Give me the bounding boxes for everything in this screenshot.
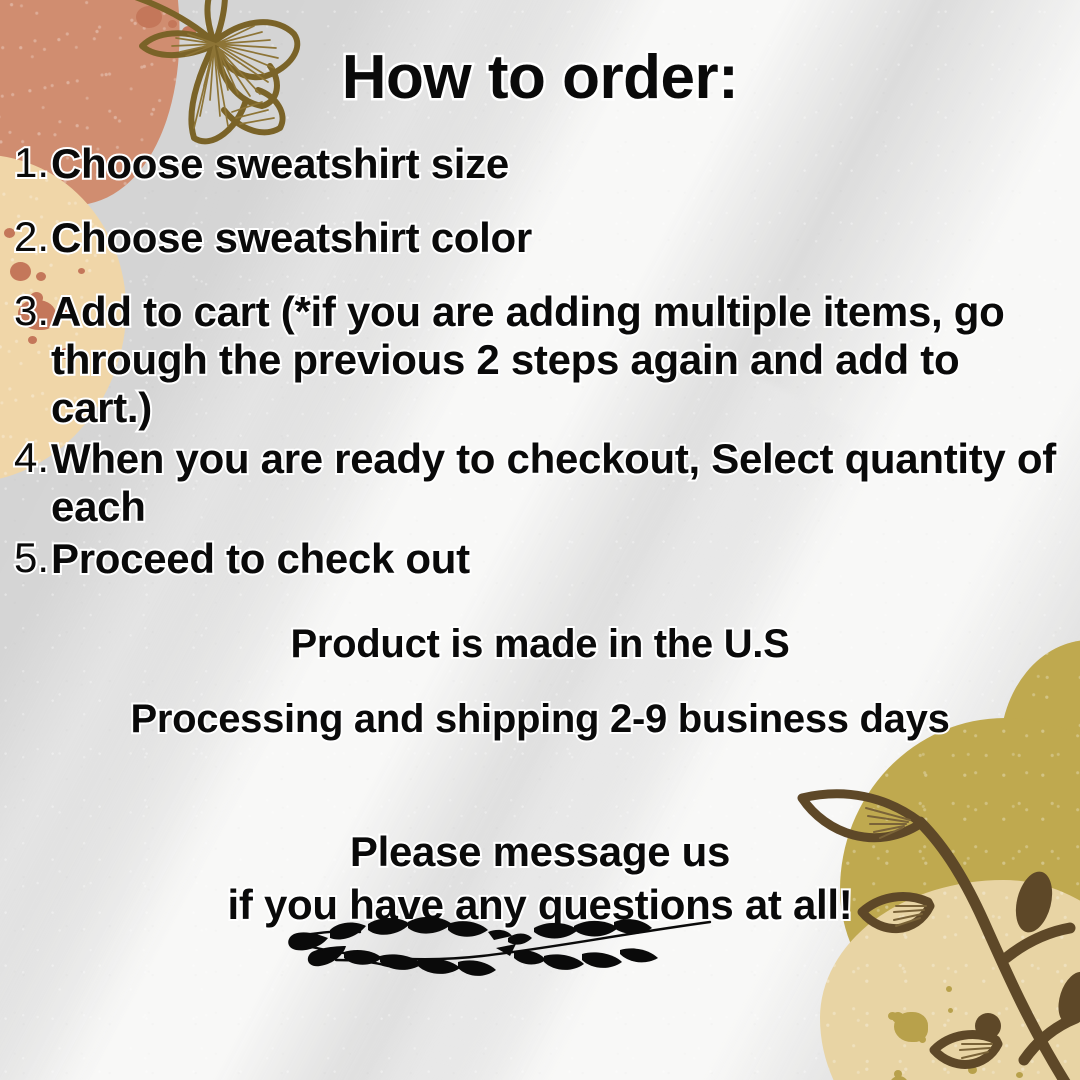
step-number: 4. — [14, 435, 49, 480]
step-number: 5. — [14, 535, 49, 580]
list-item: 1. Choose sweatshirt size — [14, 140, 1070, 188]
order-instructions-card: How to order: 1. Choose sweatshirt size … — [0, 0, 1080, 1080]
list-item: 3. Add to cart (*if you are adding multi… — [14, 288, 1070, 432]
page-title: How to order: — [0, 42, 1080, 113]
step-text: Choose sweatshirt color — [51, 214, 1070, 262]
list-item: 5. Proceed to check out — [14, 535, 1070, 583]
step-text: Add to cart (*if you are adding multiple… — [51, 288, 1070, 432]
made-in-text: Product is made in the U.S — [0, 622, 1080, 667]
order-steps-list: 1. Choose sweatshirt size 2. Choose swea… — [14, 140, 1070, 587]
product-info-block: Product is made in the U.S Processing an… — [0, 622, 1080, 772]
step-text: Proceed to check out — [51, 535, 1070, 583]
step-number: 1. — [14, 140, 49, 185]
step-number: 2. — [14, 214, 49, 259]
laurel-sprig-divider-icon — [282, 912, 712, 984]
list-item: 2. Choose sweatshirt color — [14, 214, 1070, 262]
step-number: 3. — [14, 288, 49, 333]
closing-line-1: Please message us — [0, 826, 1080, 879]
step-text: When you are ready to checkout, Select q… — [51, 435, 1070, 531]
list-item: 4. When you are ready to checkout, Selec… — [14, 435, 1070, 531]
shipping-text: Processing and shipping 2-9 business day… — [0, 697, 1080, 742]
step-text: Choose sweatshirt size — [51, 140, 1070, 188]
